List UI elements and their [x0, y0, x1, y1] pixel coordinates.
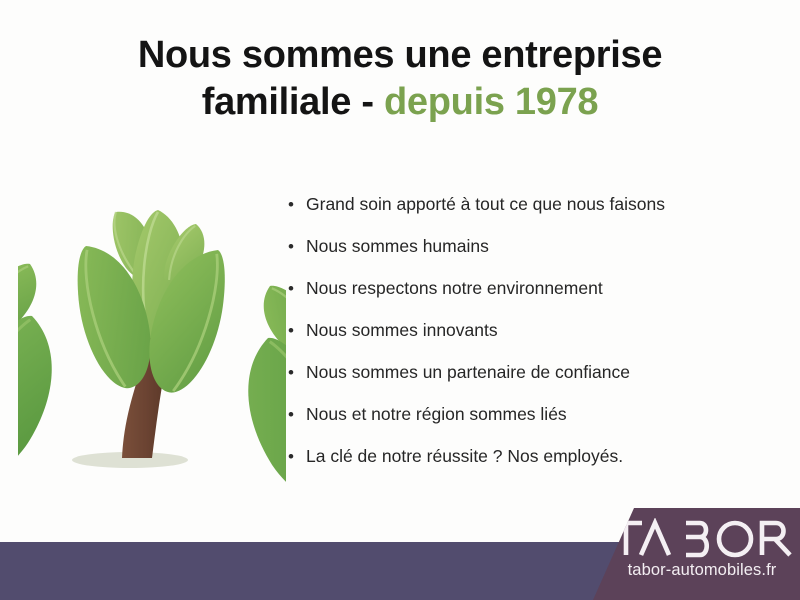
- title-line-1: Nous sommes une entreprise: [0, 34, 800, 77]
- tree-illustration: [18, 186, 286, 488]
- tabor-wordmark-icon: [608, 518, 794, 558]
- page-title: Nous sommes une entreprise familiale - d…: [0, 34, 800, 123]
- list-item: • Grand soin apporté à tout ce que nous …: [288, 193, 758, 235]
- title-accent-year: depuis 1978: [384, 81, 598, 123]
- bullet-point-icon: •: [288, 236, 306, 258]
- title-dash: -: [361, 81, 373, 123]
- list-item-label: Nous sommes un partenaire de confiance: [306, 361, 630, 383]
- bullet-list: • Grand soin apporté à tout ce que nous …: [288, 193, 758, 487]
- title-line-2: familiale - depuis 1978: [0, 81, 800, 124]
- list-item-label: Grand soin apporté à tout ce que nous fa…: [306, 193, 665, 215]
- list-item: • La clé de notre réussite ? Nos employé…: [288, 445, 758, 487]
- bullet-point-icon: •: [288, 278, 306, 300]
- list-item-label: Nous sommes innovants: [306, 319, 498, 341]
- list-item-label: La clé de notre réussite ? Nos employés.: [306, 445, 623, 467]
- list-item: • Nous sommes humains: [288, 235, 758, 277]
- bullet-point-icon: •: [288, 362, 306, 384]
- list-item: • Nous sommes un partenaire de confiance: [288, 361, 758, 403]
- list-item: • Nous sommes innovants: [288, 319, 758, 361]
- bullet-point-icon: •: [288, 320, 306, 342]
- bullet-point-icon: •: [288, 404, 306, 426]
- bullet-point-icon: •: [288, 194, 306, 216]
- slide-canvas: Nous sommes une entreprise familiale - d…: [0, 0, 800, 600]
- list-item: • Nous respectons notre environnement: [288, 277, 758, 319]
- title-familiale: familiale: [202, 81, 351, 123]
- tree-icon: [18, 186, 286, 488]
- list-item-label: Nous et notre région sommes liés: [306, 403, 567, 425]
- brand-tagline: tabor-automobiles.fr: [609, 561, 795, 580]
- list-item: • Nous et notre région sommes liés: [288, 403, 758, 445]
- list-item-label: Nous sommes humains: [306, 235, 489, 257]
- list-item-label: Nous respectons notre environnement: [306, 277, 603, 299]
- bullet-point-icon: •: [288, 446, 306, 468]
